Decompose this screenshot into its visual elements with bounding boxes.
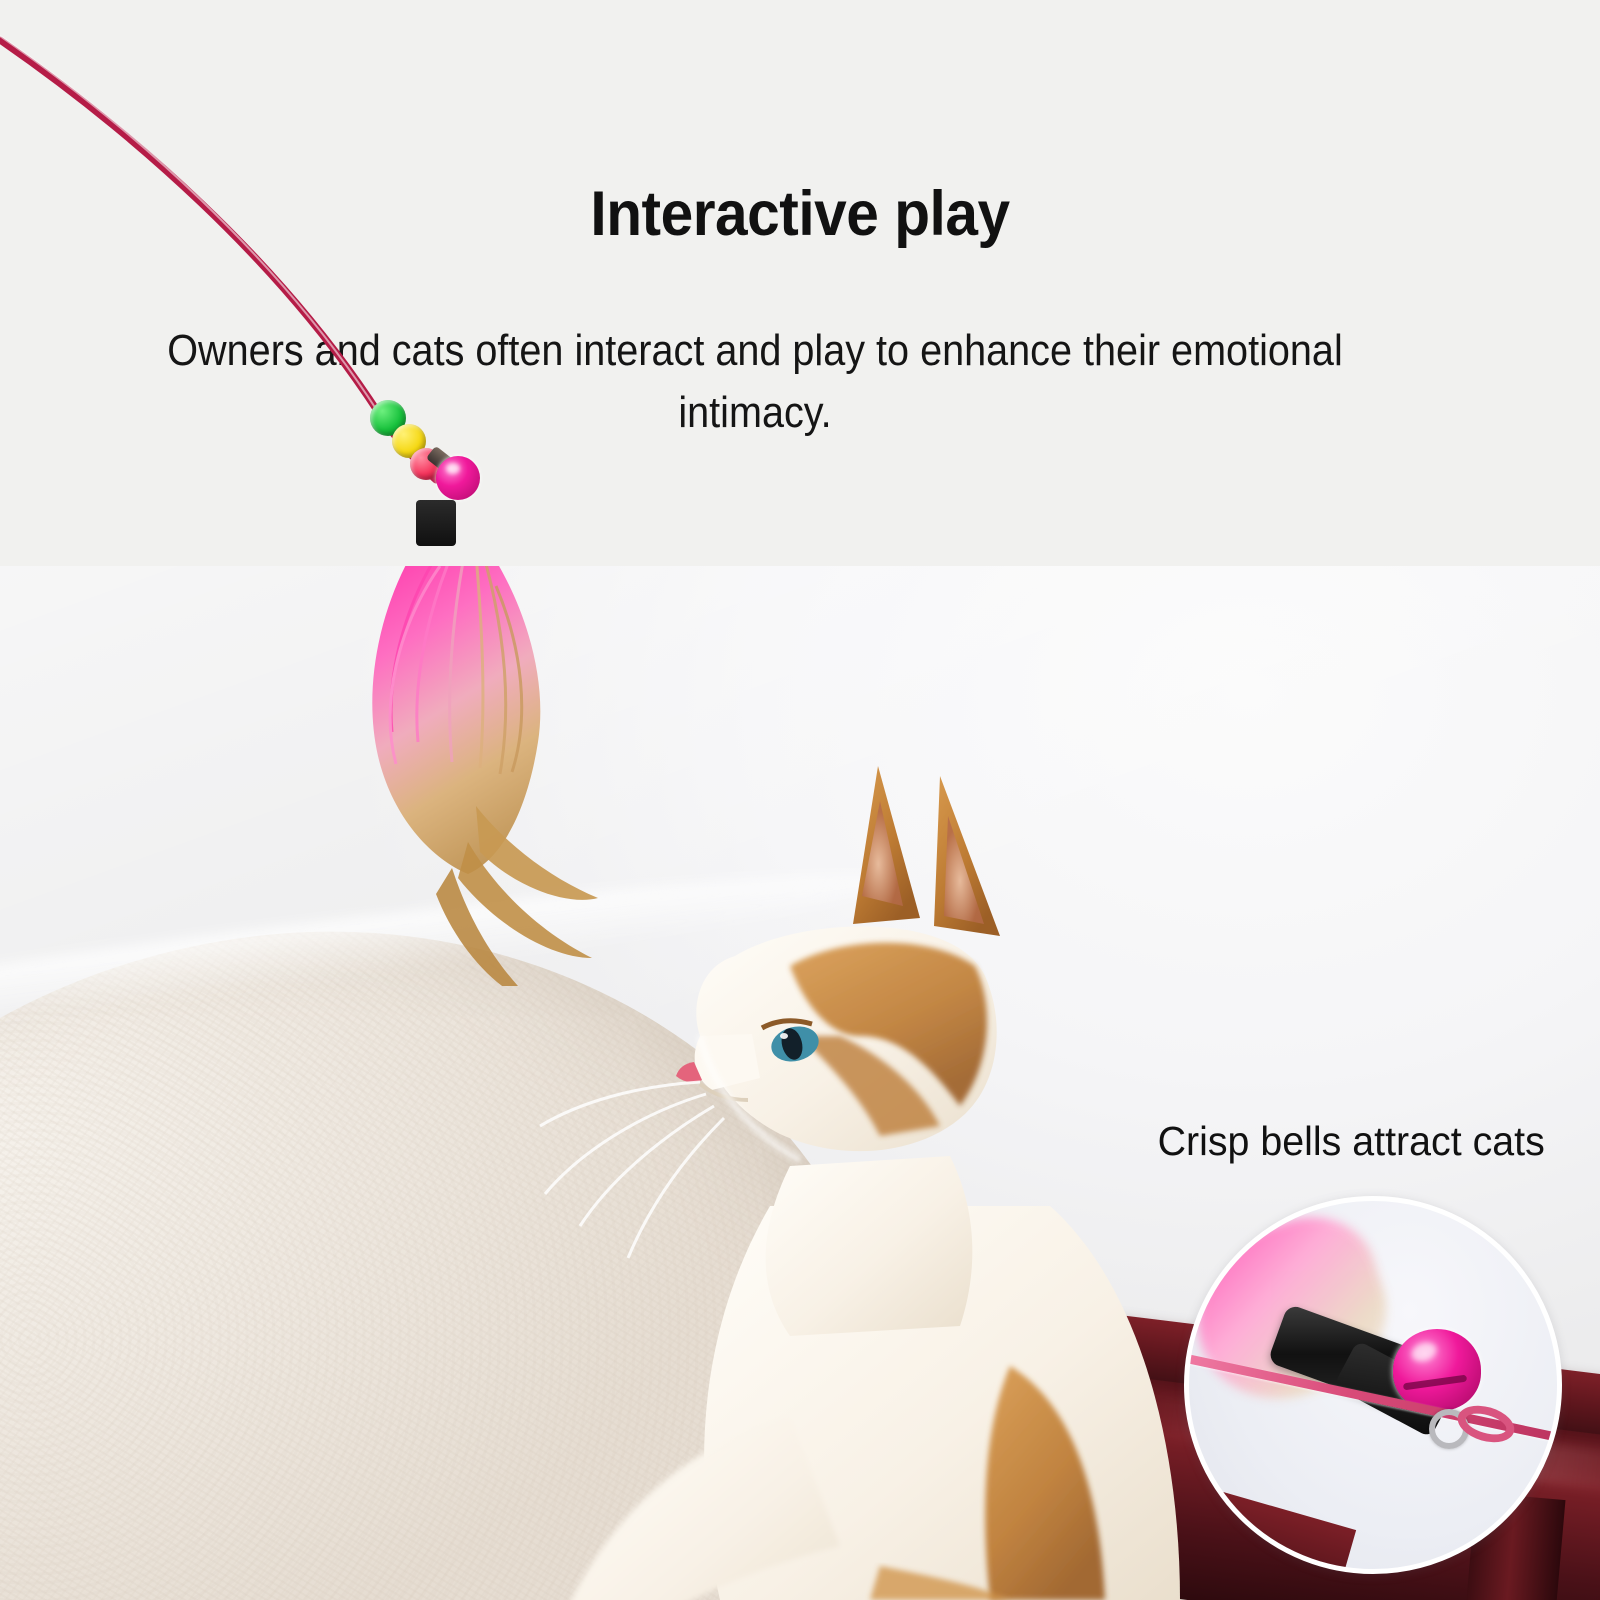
- feather-ferrule: [416, 500, 456, 546]
- header-band: Interactive play Owners and cats often i…: [0, 0, 1600, 566]
- page-title: Interactive play: [56, 178, 1544, 250]
- inset-bell: [1393, 1329, 1481, 1411]
- product-marketing-image: Interactive play Owners and cats often i…: [0, 0, 1600, 1600]
- bell-highlight: [446, 463, 460, 474]
- cat-eye-highlight: [780, 1033, 788, 1039]
- cat-ear-right-inner: [944, 816, 984, 924]
- bell: [436, 456, 480, 500]
- page-subtitle: Owners and cats often interact and play …: [112, 320, 1399, 444]
- inset-caption: Crisp bells attract cats: [1158, 1118, 1523, 1165]
- inset-circle-photo: [1184, 1196, 1562, 1574]
- inset-table-edge: [1184, 1475, 1356, 1574]
- feather-toy: [300, 566, 720, 986]
- cat-neck: [766, 1156, 973, 1336]
- cat-whiskers: [540, 1082, 724, 1258]
